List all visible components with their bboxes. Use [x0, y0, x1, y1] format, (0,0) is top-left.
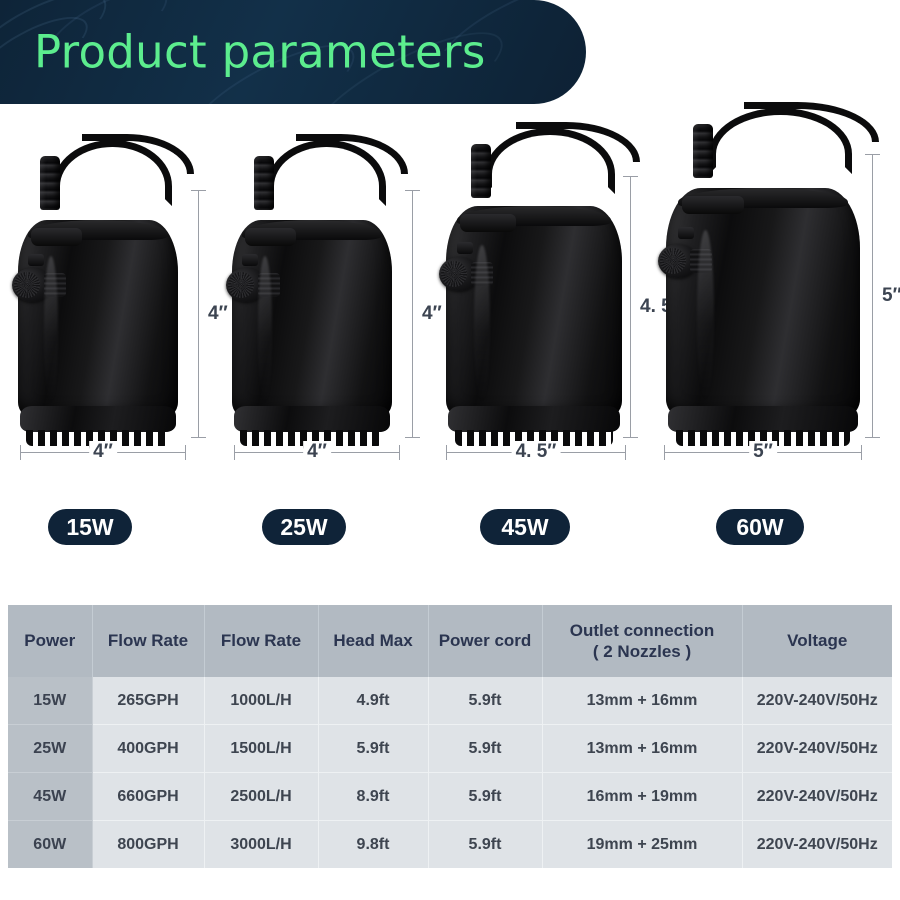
cell-power: 25W — [8, 725, 92, 773]
cell-voltage: 220V-240V/50Hz — [742, 725, 892, 773]
table-row: 45W 660GPH 2500L/H 8.9ft 5.9ft 16mm + 19… — [8, 773, 892, 821]
cell-voltage: 220V-240V/50Hz — [742, 821, 892, 869]
column-header-flow-rate-gph: Flow Rate — [92, 605, 204, 677]
column-header-power: Power — [8, 605, 92, 677]
cell-head-max: 9.8ft — [318, 821, 428, 869]
column-header-power-cord-label: Power cord — [439, 631, 532, 650]
nozzle-collar — [682, 196, 744, 214]
width-dimension-label-25w: 4″ — [303, 441, 331, 463]
pump-illustration-25w — [232, 196, 392, 446]
height-dimension-line-15w — [198, 190, 199, 438]
nozzle-collar — [460, 214, 516, 232]
pump-base — [448, 406, 620, 432]
column-header-head-max-label: Head Max — [333, 631, 412, 650]
dial-knurled-cap — [441, 261, 467, 287]
width-dimension-label-15w: 4″ — [89, 441, 117, 463]
cell-power: 45W — [8, 773, 92, 821]
cell-outlet-connection: 19mm + 25mm — [542, 821, 742, 869]
badge-25w: 25W — [262, 509, 346, 545]
pump-body — [18, 220, 178, 420]
flow-adjust-dial-icon — [226, 268, 266, 302]
height-dimension-line-45w — [630, 176, 631, 438]
cell-flow-rate-lh: 1500L/H — [204, 725, 318, 773]
cell-head-max: 5.9ft — [318, 725, 428, 773]
column-header-flow-rate-lh-label: Flow Rate — [221, 631, 301, 650]
column-header-voltage: Voltage — [742, 605, 892, 677]
nozzle-collar — [31, 228, 82, 246]
dial-knurled-cap — [660, 248, 686, 274]
product-showcase: 4″ 4″ 15W 4″ 4″ 25W — [0, 104, 900, 564]
flow-adjust-dial-icon — [658, 244, 698, 278]
pump-illustration-60w — [666, 164, 860, 446]
product-item-15w: 4″ 4″ 15W — [8, 104, 218, 564]
pump-body — [232, 220, 392, 420]
cell-voltage: 220V-240V/50Hz — [742, 773, 892, 821]
pump-illustration-15w — [18, 196, 178, 446]
column-header-power-cord: Power cord — [428, 605, 542, 677]
height-dimension-label-60w: 5″ — [878, 285, 900, 307]
outlet-nozzle-icon — [693, 124, 713, 178]
column-header-outlet-connection-label: Outlet connection — [570, 621, 715, 640]
height-dimension-line-60w — [872, 154, 873, 438]
column-header-flow-rate-lh: Flow Rate — [204, 605, 318, 677]
pump-illustration-45w — [446, 184, 622, 446]
badge-60w: 60W — [716, 509, 804, 545]
nozzle-collar — [245, 228, 296, 246]
column-header-voltage-label: Voltage — [787, 631, 847, 650]
valve-arm — [28, 254, 44, 266]
valve-arm — [242, 254, 258, 266]
cell-power-cord: 5.9ft — [428, 725, 542, 773]
column-header-head-max: Head Max — [318, 605, 428, 677]
cell-power-cord: 5.9ft — [428, 821, 542, 869]
badge-45w: 45W — [480, 509, 570, 545]
cell-flow-rate-gph: 400GPH — [92, 725, 204, 773]
valve-arm — [678, 227, 694, 239]
table-row: 25W 400GPH 1500L/H 5.9ft 5.9ft 13mm + 16… — [8, 725, 892, 773]
power-cord-tail — [744, 102, 880, 142]
pump-base — [234, 406, 391, 432]
cell-flow-rate-gph: 800GPH — [92, 821, 204, 869]
outlet-nozzle-icon — [40, 156, 60, 210]
product-item-60w: 5″ 5″ 60W — [656, 104, 896, 564]
cell-flow-rate-gph: 660GPH — [92, 773, 204, 821]
table-row: 60W 800GPH 3000L/H 9.8ft 5.9ft 19mm + 25… — [8, 821, 892, 869]
cell-outlet-connection: 13mm + 16mm — [542, 677, 742, 725]
width-dimension-label-45w: 4. 5″ — [512, 441, 561, 463]
column-header-flow-rate-gph-label: Flow Rate — [108, 631, 188, 650]
page-title: Product parameters — [34, 26, 486, 79]
pump-body — [666, 188, 860, 420]
valve-arm — [457, 242, 473, 254]
cell-flow-rate-lh: 3000L/H — [204, 821, 318, 869]
badge-15w: 15W — [48, 509, 132, 545]
product-item-25w: 4″ 4″ 25W — [222, 104, 432, 564]
table-header-row: Power Flow Rate Flow Rate Head Max Power… — [8, 605, 892, 677]
cell-flow-rate-gph: 265GPH — [92, 677, 204, 725]
column-header-outlet-connection-sublabel: ( 2 Nozzles ) — [593, 642, 691, 661]
cell-power: 60W — [8, 821, 92, 869]
specifications-table: Power Flow Rate Flow Rate Head Max Power… — [8, 605, 892, 868]
column-header-outlet-connection: Outlet connection ( 2 Nozzles ) — [542, 605, 742, 677]
pump-body — [446, 206, 622, 420]
cell-outlet-connection: 16mm + 19mm — [542, 773, 742, 821]
flow-adjust-dial-icon — [439, 257, 479, 291]
cell-voltage: 220V-240V/50Hz — [742, 677, 892, 725]
cell-outlet-connection: 13mm + 16mm — [542, 725, 742, 773]
product-item-45w: 4. 5″ 4. 5″ 45W — [436, 104, 656, 564]
cell-flow-rate-lh: 2500L/H — [204, 773, 318, 821]
dial-knurled-cap — [228, 272, 254, 298]
pump-base — [20, 406, 177, 432]
cell-power-cord: 5.9ft — [428, 677, 542, 725]
cell-flow-rate-lh: 1000L/H — [204, 677, 318, 725]
cell-power: 15W — [8, 677, 92, 725]
width-dimension-label-60w: 5″ — [749, 441, 777, 463]
column-header-power-label: Power — [24, 631, 75, 650]
pump-base — [668, 406, 858, 432]
table-row: 15W 265GPH 1000L/H 4.9ft 5.9ft 13mm + 16… — [8, 677, 892, 725]
power-cord-tail — [516, 122, 639, 162]
flow-adjust-dial-icon — [12, 268, 52, 302]
cell-head-max: 8.9ft — [318, 773, 428, 821]
outlet-nozzle-icon — [254, 156, 274, 210]
cell-head-max: 4.9ft — [318, 677, 428, 725]
dial-knurled-cap — [14, 272, 40, 298]
height-dimension-line-25w — [412, 190, 413, 438]
outlet-nozzle-icon — [471, 144, 491, 198]
cell-power-cord: 5.9ft — [428, 773, 542, 821]
header-banner: Product parameters — [0, 0, 586, 104]
power-cord-tail — [82, 134, 194, 174]
power-cord-tail — [296, 134, 408, 174]
